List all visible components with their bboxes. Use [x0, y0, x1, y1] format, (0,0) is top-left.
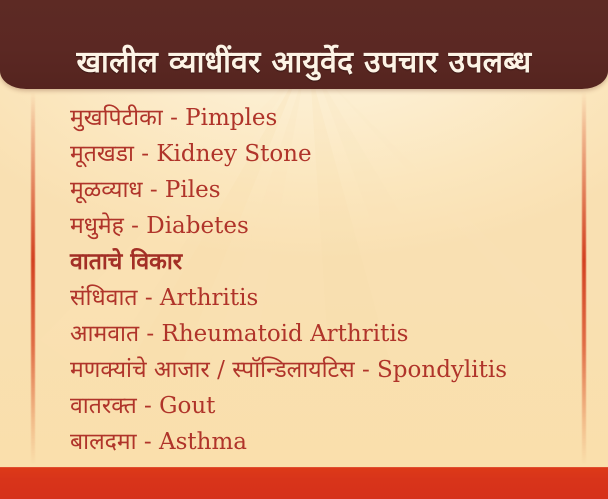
accent-stripe-left	[31, 92, 35, 464]
poster-canvas: खालील व्याधींवर आयुर्वेद उपचार उपलब्ध मु…	[0, 0, 608, 499]
list-section-heading: वाताचे विकार	[70, 244, 590, 280]
treatment-list: मुखपिटीका - Pimples मूतखडा - Kidney Ston…	[70, 100, 590, 460]
list-item: बालदमा - Asthma	[70, 424, 590, 460]
list-item: संधिवात - Arthritis	[70, 280, 590, 316]
header-band: खालील व्याधींवर आयुर्वेद उपचार उपलब्ध	[0, 0, 608, 89]
list-item: मुखपिटीका - Pimples	[70, 100, 590, 136]
list-item: मधुमेह - Diabetes	[70, 208, 590, 244]
page-title: खालील व्याधींवर आयुर्वेद उपचार उपलब्ध	[77, 46, 532, 81]
list-item: मणक्यांचे आजार / स्पॉन्डिलायटिस - Spondy…	[70, 352, 590, 388]
list-item: मूळव्याध - Piles	[70, 172, 590, 208]
list-item: वातरक्त - Gout	[70, 388, 590, 424]
list-item: मूतखडा - Kidney Stone	[70, 136, 590, 172]
list-item: आमवात - Rheumatoid Arthritis	[70, 316, 590, 352]
bottom-accent-bar	[0, 467, 608, 499]
